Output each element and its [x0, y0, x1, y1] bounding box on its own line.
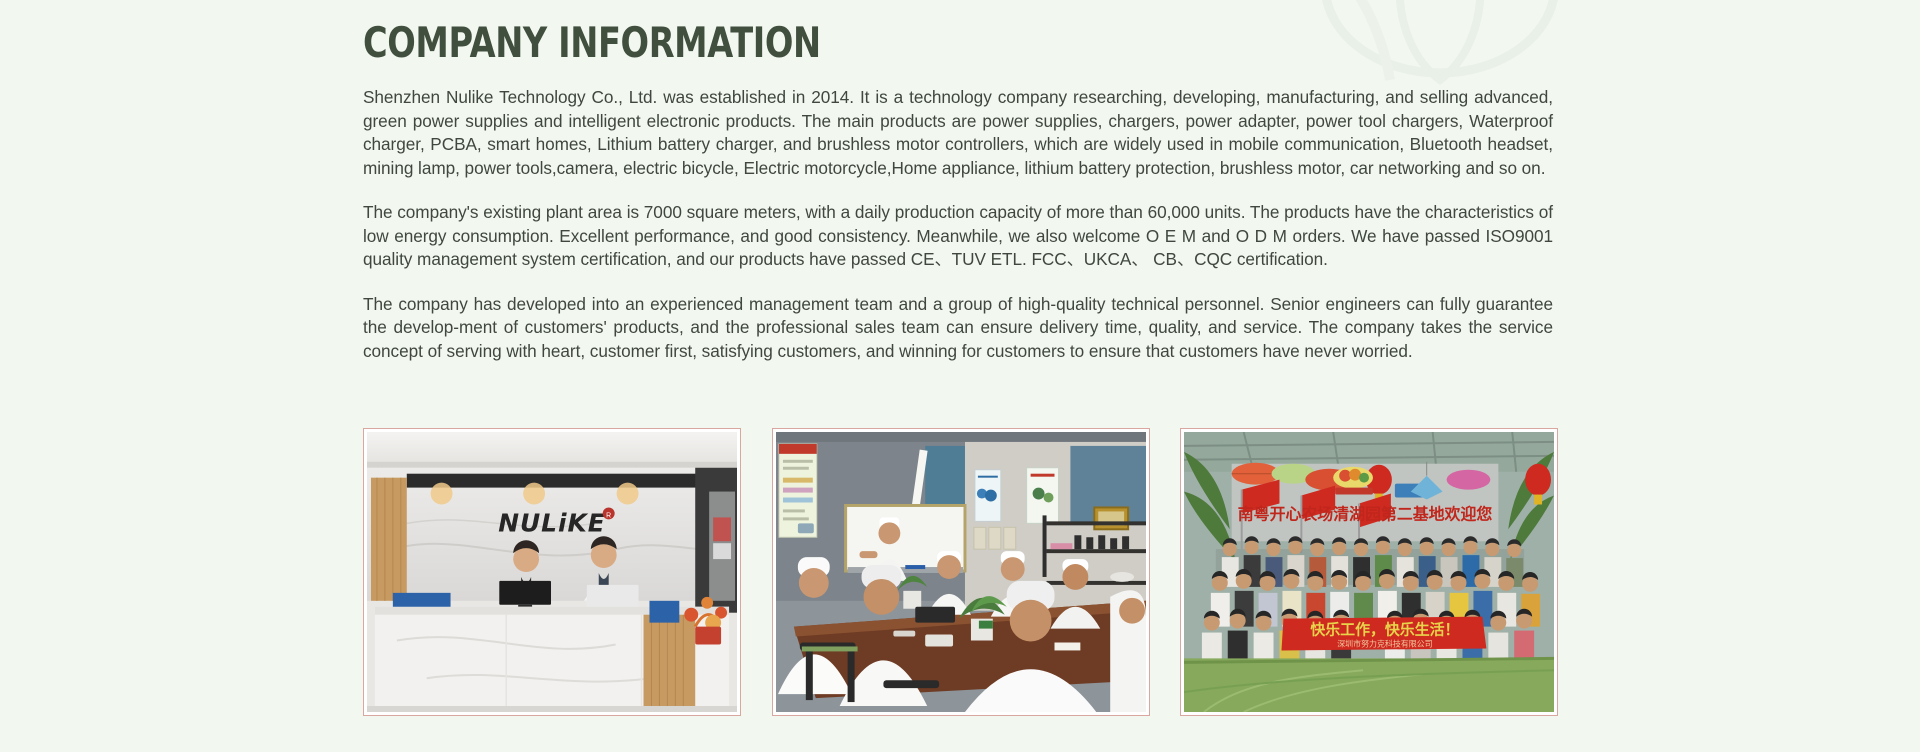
company-information-page: COMPANY INFORMATION Shenzhen Nulike Tech… [0, 0, 1920, 752]
paragraph-3: The company has developed into an experi… [363, 293, 1553, 364]
photo-gallery: NULiKE R [363, 428, 1558, 716]
svg-text:NULiKE: NULiKE [498, 508, 606, 537]
svg-text:深圳市努力克科技有限公司: 深圳市努力克科技有限公司 [1337, 638, 1432, 648]
training-meeting-photo[interactable] [772, 428, 1150, 716]
svg-text:南粤开心农场清湖园第二基地欢迎您: 南粤开心农场清湖园第二基地欢迎您 [1238, 504, 1493, 523]
page-title: COMPANY INFORMATION [363, 18, 1315, 68]
paragraph-1: Shenzhen Nulike Technology Co., Ltd. was… [363, 86, 1553, 180]
reception-lobby-image: NULiKE R [367, 432, 737, 712]
reception-lobby-photo[interactable]: NULiKE R [363, 428, 741, 716]
team-group-photo[interactable]: 南粤开心农场清湖园第二基地欢迎您 [1180, 428, 1558, 716]
text-content: COMPANY INFORMATION Shenzhen Nulike Tech… [363, 18, 1553, 363]
team-group-image: 南粤开心农场清湖园第二基地欢迎您 [1184, 432, 1554, 712]
paragraph-2: The company's existing plant area is 700… [363, 201, 1553, 272]
svg-text:快乐工作，快乐生活！: 快乐工作，快乐生活！ [1310, 621, 1459, 639]
training-meeting-image [776, 432, 1146, 712]
svg-text:R: R [606, 512, 611, 519]
